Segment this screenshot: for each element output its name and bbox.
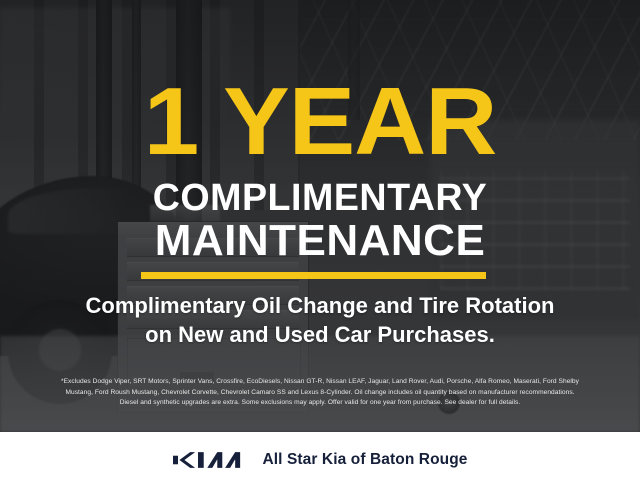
promo-content: 1 YEAR COMPLIMENTARY MAINTENANCE Complim… bbox=[0, 0, 640, 432]
disclaimer-line-1: *Excludes Dodge Viper, SRT Motors, Sprin… bbox=[14, 377, 626, 388]
kia-logo-icon bbox=[172, 450, 244, 470]
headline-complimentary: COMPLIMENTARY bbox=[3, 178, 637, 218]
disclaimer-line-3: Diesel and synthetic upgrades are extra.… bbox=[14, 398, 626, 409]
offer-description-line-1: Complimentary Oil Change and Tire Rotati… bbox=[0, 293, 640, 319]
offer-description-line-2: on New and Used Car Purchases. bbox=[0, 322, 640, 348]
headline-maintenance: MAINTENANCE bbox=[0, 218, 640, 264]
dealer-footer: All Star Kia of Baton Rouge bbox=[0, 432, 640, 488]
yellow-divider-bar bbox=[141, 272, 486, 279]
advertisement-banner: 1 YEAR COMPLIMENTARY MAINTENANCE Complim… bbox=[0, 0, 640, 488]
headline-duration: 1 YEAR bbox=[0, 74, 640, 170]
dealer-name-label: All Star Kia of Baton Rouge bbox=[262, 451, 467, 469]
disclaimer-text: *Excludes Dodge Viper, SRT Motors, Sprin… bbox=[14, 377, 626, 409]
disclaimer-line-2: Mustang, Ford Roush Mustang, Chevrolet C… bbox=[14, 388, 626, 399]
